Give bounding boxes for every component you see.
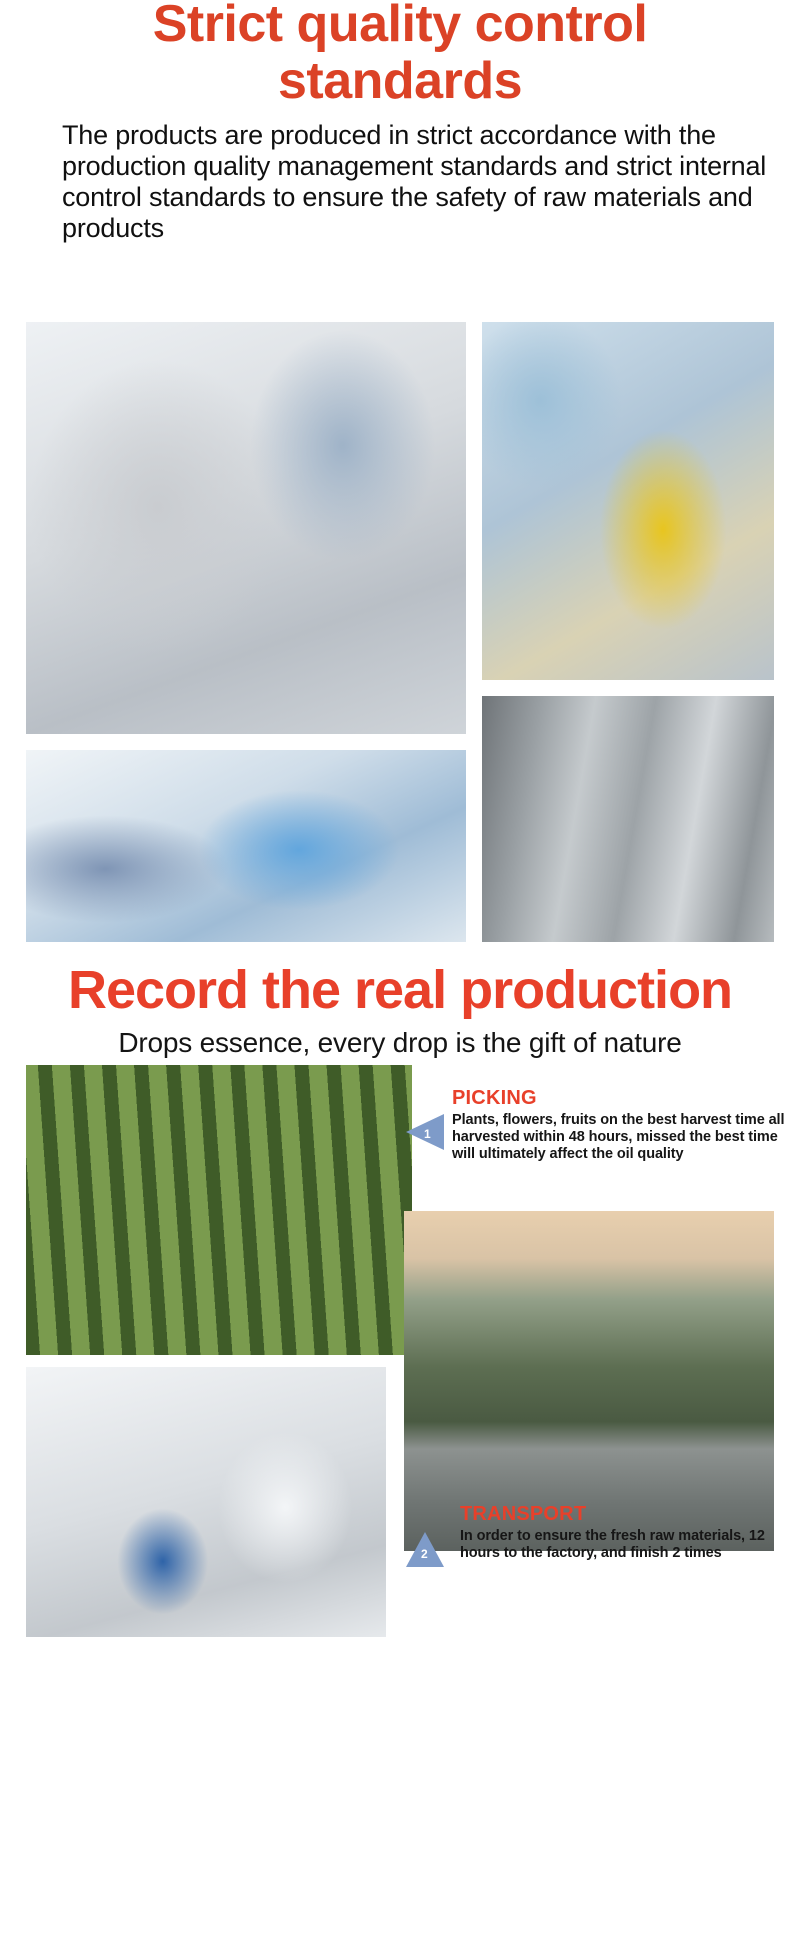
photo-cleanroom-team-image xyxy=(26,1367,386,1637)
photo-harvest-field xyxy=(26,1065,412,1355)
photo-cleanroom-team xyxy=(26,1367,386,1637)
step-picking-title: PICKING xyxy=(452,1087,800,1110)
record-subheading: Drops essence, every drop is the gift of… xyxy=(0,1020,800,1060)
photo-blue-gown-operator-image xyxy=(26,750,466,942)
quality-description: The products are produced in strict acco… xyxy=(0,110,800,244)
page-title: Strict quality control standards xyxy=(0,0,800,110)
photo-yellow-coat-worker xyxy=(482,322,774,680)
product-detail-page: Strict quality control standards The pro… xyxy=(0,0,800,1937)
step-marker-1: 1 xyxy=(404,1109,446,1155)
step-marker-2: 2 xyxy=(404,1525,446,1571)
quality-control-section: Strict quality control standards The pro… xyxy=(0,0,800,244)
photo-yellow-coat-worker-image xyxy=(482,322,774,680)
step-picking-body: PICKING Plants, flowers, fruits on the b… xyxy=(446,1087,800,1163)
photo-highway-trucks xyxy=(404,1211,774,1551)
step-picking-text: Plants, flowers, fruits on the best harv… xyxy=(452,1110,800,1163)
photo-harvest-field-image xyxy=(26,1065,412,1355)
step-transport-text: In order to ensure the fresh raw materia… xyxy=(452,1526,800,1562)
record-production-section: Record the real production Drops essence… xyxy=(0,960,800,1060)
record-heading: Record the real production xyxy=(0,960,800,1020)
photo-bioreactor-operator-image xyxy=(26,322,466,734)
photo-bioreactor-operator xyxy=(26,322,466,734)
step-number-2: 2 xyxy=(421,1547,428,1561)
photo-blue-gown-operator xyxy=(26,750,466,942)
record-image-grid: 1 PICKING Plants, flowers, fruits on the… xyxy=(0,1065,800,1937)
quality-image-grid xyxy=(26,322,774,942)
photo-storage-tanks-image xyxy=(482,696,774,942)
step-transport-body: TRANSPORT In order to ensure the fresh r… xyxy=(446,1503,800,1562)
step-transport: 2 TRANSPORT In order to ensure the fresh… xyxy=(404,1503,800,1571)
step-number-1: 1 xyxy=(424,1127,431,1141)
photo-storage-tanks xyxy=(482,696,774,942)
step-transport-title: TRANSPORT xyxy=(452,1503,800,1526)
photo-highway-trucks-image xyxy=(404,1211,774,1551)
step-picking: 1 PICKING Plants, flowers, fruits on the… xyxy=(404,1087,800,1163)
